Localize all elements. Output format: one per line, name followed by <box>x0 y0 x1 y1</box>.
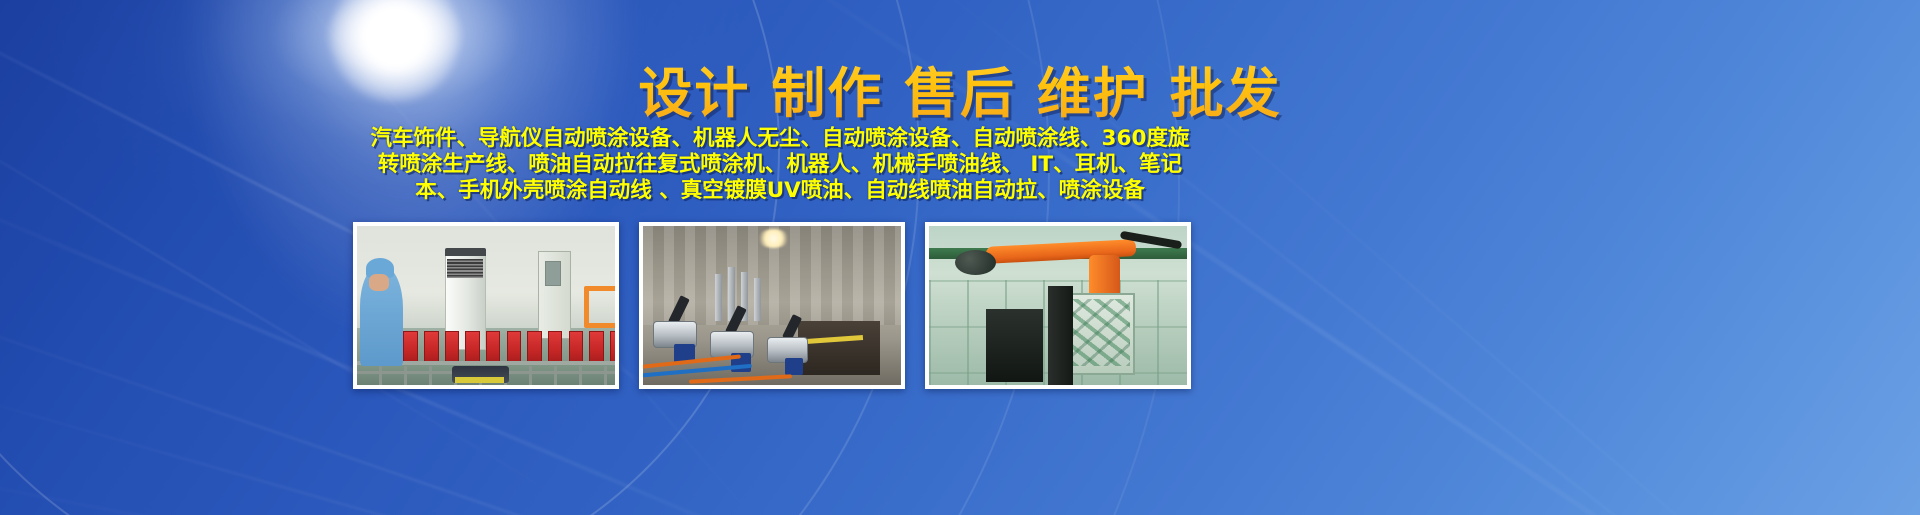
banner-headline: 设计 制作 售后 维护 批发 <box>0 49 1920 128</box>
photo-thumbnail-robot-arm-booth[interactable] <box>925 222 1191 389</box>
photo-red-jig <box>548 331 562 364</box>
photo-gun-body <box>785 358 803 375</box>
banner-content: 设计 制作 售后 维护 批发 汽车饰件、导航仪自动喷涂设备、机器人无尘、自动喷涂… <box>0 0 1920 515</box>
promo-banner: 设计 制作 售后 维护 批发 汽车饰件、导航仪自动喷涂设备、机器人无尘、自动喷涂… <box>0 0 1920 515</box>
photo-dark-opening <box>798 321 881 375</box>
photo-panel-pattern <box>1073 299 1130 366</box>
photo-red-jig <box>424 331 438 364</box>
photo-strip <box>0 222 1920 397</box>
photo-red-jig <box>507 331 521 364</box>
photo-red-jig <box>527 331 541 364</box>
photo-red-jig <box>486 331 500 364</box>
photo-worker-face <box>369 274 390 291</box>
photo-red-jig <box>445 331 459 364</box>
photo-thumbnail-spray-guns-booth[interactable] <box>639 222 905 389</box>
photo-image <box>929 226 1187 385</box>
photo-image <box>357 226 615 385</box>
photo-floor-cart-stripe <box>455 377 504 383</box>
photo-red-jig <box>610 331 615 364</box>
photo-dark-fixture <box>986 309 1043 382</box>
photo-orange-frame <box>584 286 615 327</box>
photo-air-unit-top <box>445 248 486 256</box>
photo-air-vent <box>447 259 483 278</box>
photo-red-jig <box>569 331 583 364</box>
photo-red-jig <box>465 331 479 364</box>
photo-thumbnail-cleanroom-coating-line[interactable] <box>353 222 619 389</box>
photo-red-jig <box>589 331 603 364</box>
photo-image <box>643 226 901 385</box>
banner-subtitle: 汽车饰件、导航仪自动喷涂设备、机器人无尘、自动喷涂设备、自动喷涂线、360度旋转… <box>360 126 1200 204</box>
photo-support-column <box>1048 286 1074 385</box>
photo-robot-joint <box>955 250 996 275</box>
photo-red-jig <box>403 331 417 364</box>
photo-vertical-tube <box>715 274 722 322</box>
photo-vertical-tube <box>754 278 761 321</box>
photo-door-window <box>545 261 560 286</box>
